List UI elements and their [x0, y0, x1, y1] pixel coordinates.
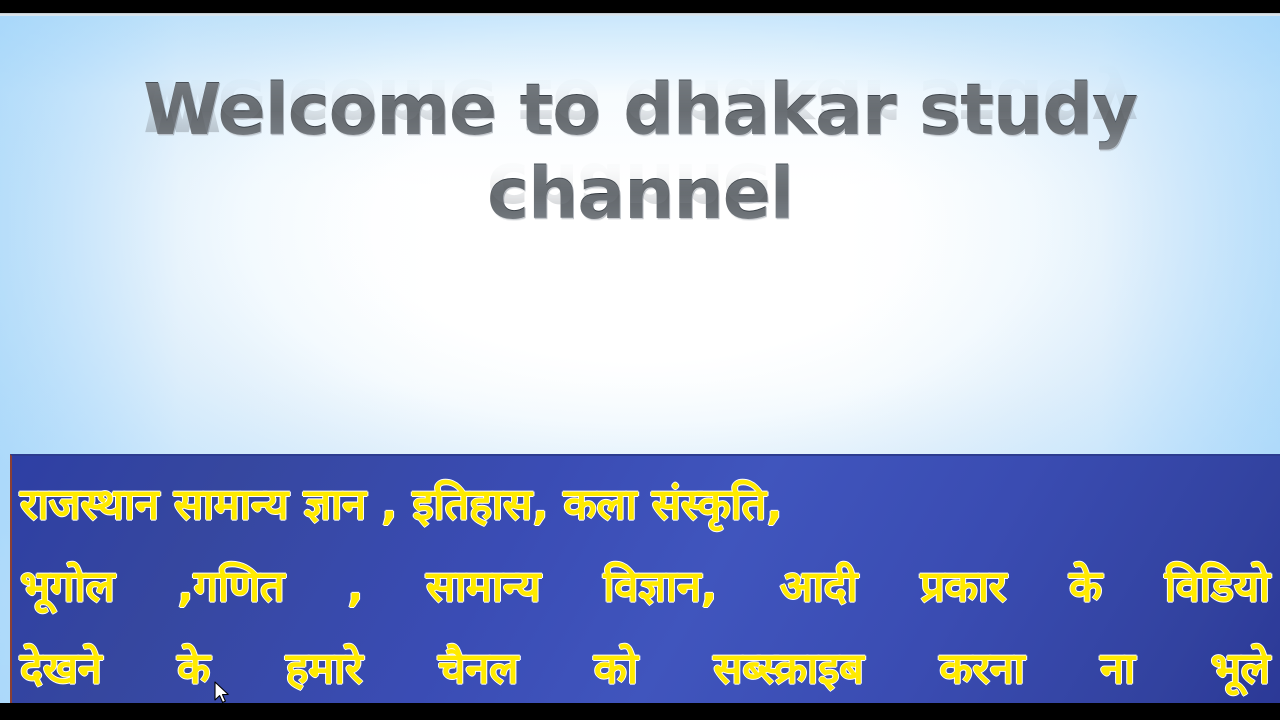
body-line-2: भूगोल ,गणित , सामान्य विज्ञान, आदी प्रका… [20, 546, 1270, 628]
slide-top-edge-highlight [0, 13, 1280, 16]
title-line-1: Welcome to dhakar study Welcome to dhaka… [0, 68, 1280, 152]
body-line-1: राजस्थान सामान्य ज्ञान , इतिहास, कला संस… [20, 464, 1270, 546]
slide-body-content: राजस्थान सामान्य ज्ञान , इतिहास, कला संस… [20, 464, 1270, 710]
title-line-2-text: channel [487, 152, 793, 236]
letterbox-bottom-bar [0, 703, 1280, 720]
title-line-1-text: Welcome to dhakar study [143, 68, 1137, 152]
video-player-frame: Welcome to dhakar study Welcome to dhaka… [0, 0, 1280, 720]
body-line-3: देखने के हमारे चैनल को सब्स्क्राइब करना … [20, 628, 1270, 710]
letterbox-top-bar [0, 0, 1280, 13]
title-line-2: channel channel [0, 152, 1280, 236]
slide-body-textbox: राजस्थान सामान्य ज्ञान , इतिहास, कला संस… [10, 454, 1280, 720]
presentation-slide: Welcome to dhakar study Welcome to dhaka… [0, 16, 1280, 720]
slide-title: Welcome to dhakar study Welcome to dhaka… [0, 68, 1280, 236]
